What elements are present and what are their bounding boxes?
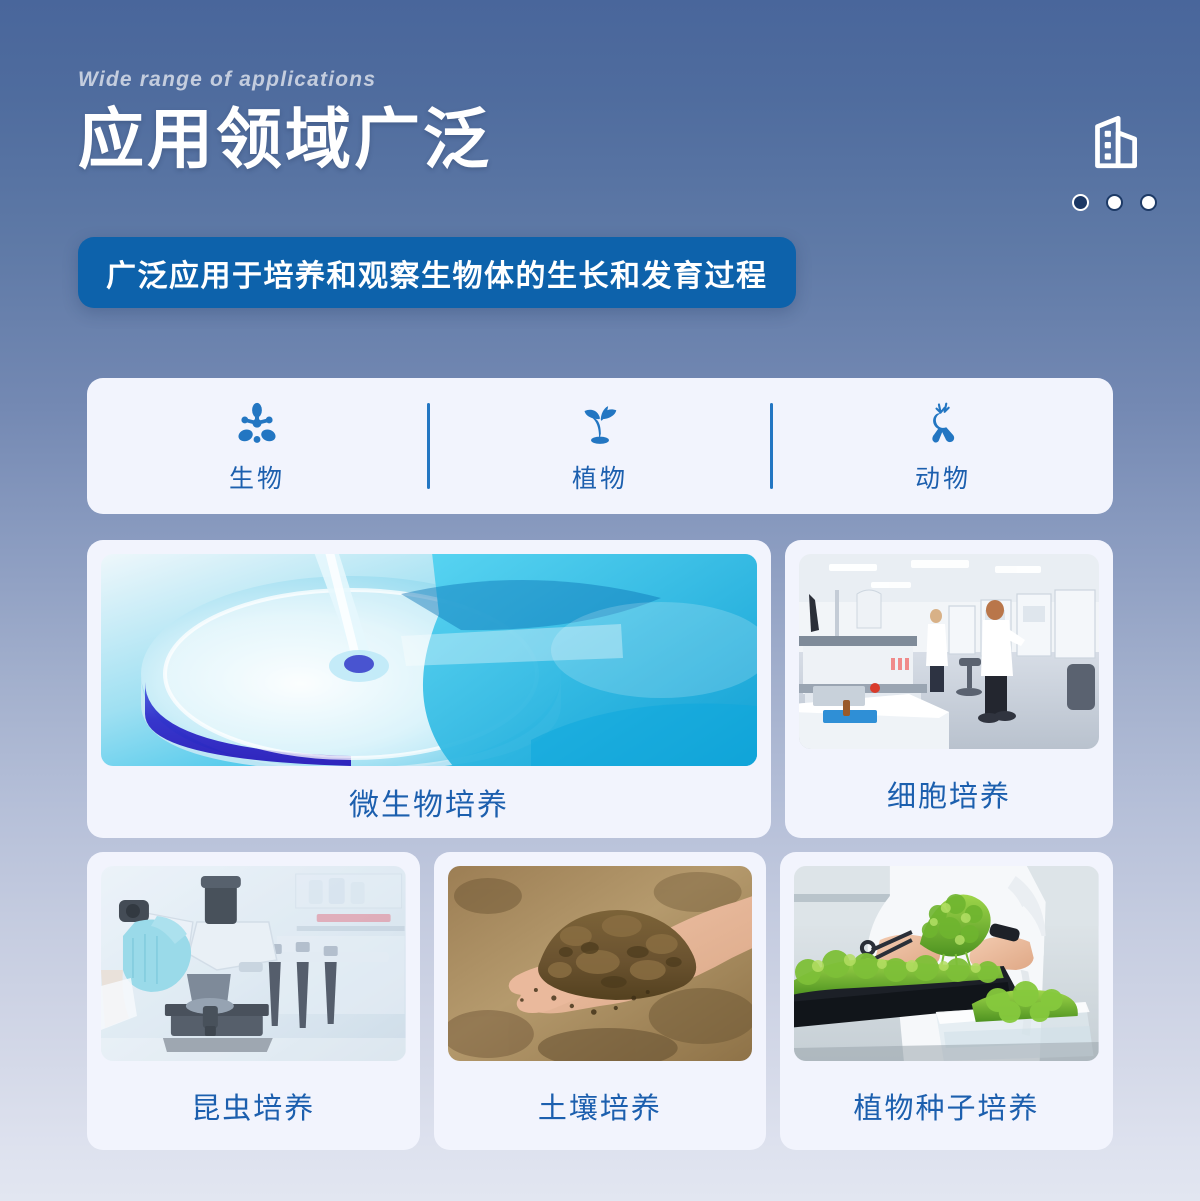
seedling-trays-photo — [794, 866, 1099, 1061]
tagline-banner: 广泛应用于培养和观察生物体的生长和发育过程 — [78, 237, 796, 308]
application-card-grid: 微生物培养 — [87, 540, 1113, 1150]
hand-holding-soil-photo — [448, 866, 753, 1061]
category-label-plant: 植物 — [572, 459, 628, 495]
page-title: 应用领域广泛 — [78, 104, 1138, 175]
page-header: Wide range of applications 应用领域广泛 — [78, 68, 1138, 175]
card-label-microbial-culture: 微生物培养 — [349, 766, 509, 838]
card-label-insect-culture: 昆虫培养 — [191, 1061, 315, 1150]
category-strip: 生物 植物 — [87, 378, 1113, 514]
promotional-page: Wide range of applications 应用领域广泛 — [0, 0, 1200, 1201]
sprout-icon — [574, 398, 626, 450]
card-soil-culture[interactable]: 土壤培养 — [434, 852, 767, 1150]
category-item-plant[interactable]: 植物 — [430, 378, 770, 514]
microbe-icon — [231, 398, 283, 450]
card-microbial-culture[interactable]: 微生物培养 — [87, 540, 771, 838]
category-item-animal[interactable]: 动物 — [773, 378, 1113, 514]
eyebrow-text: Wide range of applications — [78, 68, 1138, 92]
category-label-biology: 生物 — [229, 459, 285, 495]
card-label-soil-culture: 土壤培养 — [538, 1061, 662, 1150]
pagination-dots[interactable] — [1072, 194, 1157, 211]
petri-dish-pipette-photo — [101, 554, 757, 766]
card-cell-culture[interactable]: 细胞培养 — [785, 540, 1113, 838]
deer-icon — [917, 398, 969, 450]
laboratory-interior-photo — [799, 554, 1099, 749]
microscope-gloved-hand-photo — [101, 866, 406, 1061]
emblem-group — [1074, 108, 1154, 211]
category-label-animal: 动物 — [915, 459, 971, 495]
card-row-1: 微生物培养 — [87, 540, 1113, 838]
category-item-biology[interactable]: 生物 — [87, 378, 427, 514]
card-label-cell-culture: 细胞培养 — [887, 749, 1011, 838]
pagination-dot-3[interactable] — [1140, 194, 1157, 211]
pagination-dot-2[interactable] — [1106, 194, 1123, 211]
pagination-dot-1[interactable] — [1072, 194, 1089, 211]
building-icon — [1081, 108, 1147, 174]
card-row-2: 昆虫培养 — [87, 852, 1113, 1150]
card-insect-culture[interactable]: 昆虫培养 — [87, 852, 420, 1150]
tagline-text: 广泛应用于培养和观察生物体的生长和发育过程 — [106, 251, 768, 295]
card-label-plant-seed-culture: 植物种子培养 — [853, 1061, 1039, 1150]
card-plant-seed-culture[interactable]: 植物种子培养 — [780, 852, 1113, 1150]
